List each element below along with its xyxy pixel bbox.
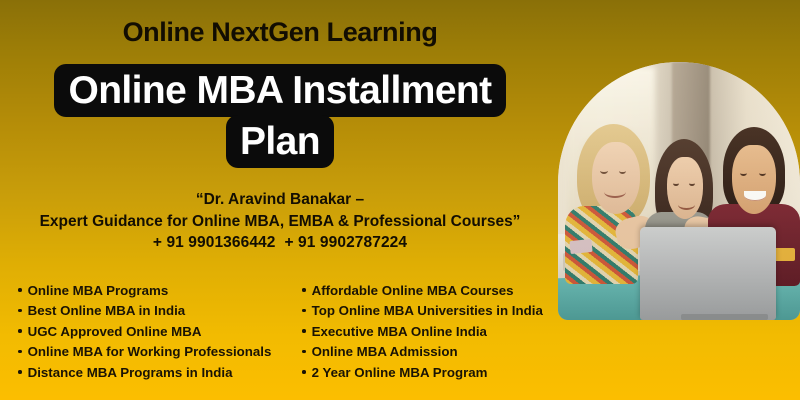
phone-number-1[interactable]: + 91 9901366442 — [153, 234, 276, 251]
list-item-label: 2 Year Online MBA Program — [312, 363, 488, 383]
photo-person-1-face — [592, 142, 640, 214]
list-item-label: Distance MBA Programs in India — [28, 363, 233, 383]
bullet-dot-icon — [18, 288, 22, 292]
phone-number-2[interactable]: + 91 9902787224 — [285, 234, 408, 251]
list-item-label: Executive MBA Online India — [312, 322, 487, 342]
list-item: Online MBA for Working Professionals — [18, 342, 271, 362]
photo-person-1-smile — [604, 186, 626, 198]
bullet-dot-icon — [302, 288, 306, 292]
list-item: Online MBA Admission — [302, 342, 543, 362]
list-item: UGC Approved Online MBA — [18, 322, 271, 342]
bullet-dot-icon — [18, 309, 22, 313]
photo-laptop-base — [681, 314, 768, 321]
bullet-dot-icon — [302, 329, 306, 333]
list-item-label: Online MBA for Working Professionals — [28, 342, 272, 362]
tagline-block: “Dr. Aravind Banakar – Expert Guidance f… — [0, 189, 560, 254]
photo-phone — [569, 239, 592, 254]
bullet-column-right: Affordable Online MBA Courses Top Online… — [302, 281, 543, 383]
photo-person-1-eye-right — [619, 168, 626, 174]
list-item: 2 Year Online MBA Program — [302, 363, 543, 383]
list-item-label: Online MBA Admission — [312, 342, 458, 362]
list-item-label: Top Online MBA Universities in India — [312, 301, 543, 321]
list-item-label: Affordable Online MBA Courses — [312, 281, 514, 301]
photo-person-2-smile — [678, 199, 695, 210]
bullet-dot-icon — [18, 329, 22, 333]
bullet-dot-icon — [18, 370, 22, 374]
photo-person-1-eye-left — [600, 168, 607, 174]
photo-scene — [558, 62, 800, 320]
bullet-dot-icon — [18, 350, 22, 354]
keyword-lists: Online MBA Programs Best Online MBA in I… — [0, 281, 560, 391]
photo-laptop — [640, 227, 776, 320]
contact-numbers: + 91 9901366442+ 91 9902787224 — [0, 232, 560, 254]
photo-person-3-eye-left — [740, 170, 747, 176]
list-item: Top Online MBA Universities in India — [302, 301, 543, 321]
bullet-dot-icon — [302, 309, 306, 313]
photo-person-3-face — [732, 145, 776, 215]
main-title-line-2: Plan — [226, 115, 334, 168]
banner-content: Online NextGen Learning Online MBA Insta… — [0, 0, 560, 400]
list-item: Best Online MBA in India — [18, 301, 271, 321]
main-title-line-1: Online MBA Installment — [54, 64, 505, 117]
students-photo — [558, 62, 800, 320]
main-title: Online MBA Installment Plan — [0, 64, 560, 168]
list-item-label: UGC Approved Online MBA — [28, 322, 202, 342]
list-item: Executive MBA Online India — [302, 322, 543, 342]
bullet-dot-icon — [302, 370, 306, 374]
list-item-label: Online MBA Programs — [28, 281, 169, 301]
promotional-banner: Online NextGen Learning Online MBA Insta… — [0, 0, 800, 400]
list-item: Online MBA Programs — [18, 281, 271, 301]
list-item: Affordable Online MBA Courses — [302, 281, 543, 301]
tagline-line-2: Expert Guidance for Online MBA, EMBA & P… — [0, 211, 560, 233]
bullet-column-left: Online MBA Programs Best Online MBA in I… — [18, 281, 271, 383]
list-item-label: Best Online MBA in India — [28, 301, 186, 321]
tagline-line-1: “Dr. Aravind Banakar – — [0, 189, 560, 211]
bullet-dot-icon — [302, 350, 306, 354]
list-item: Distance MBA Programs in India — [18, 363, 271, 383]
brand-heading: Online NextGen Learning — [0, 17, 560, 48]
